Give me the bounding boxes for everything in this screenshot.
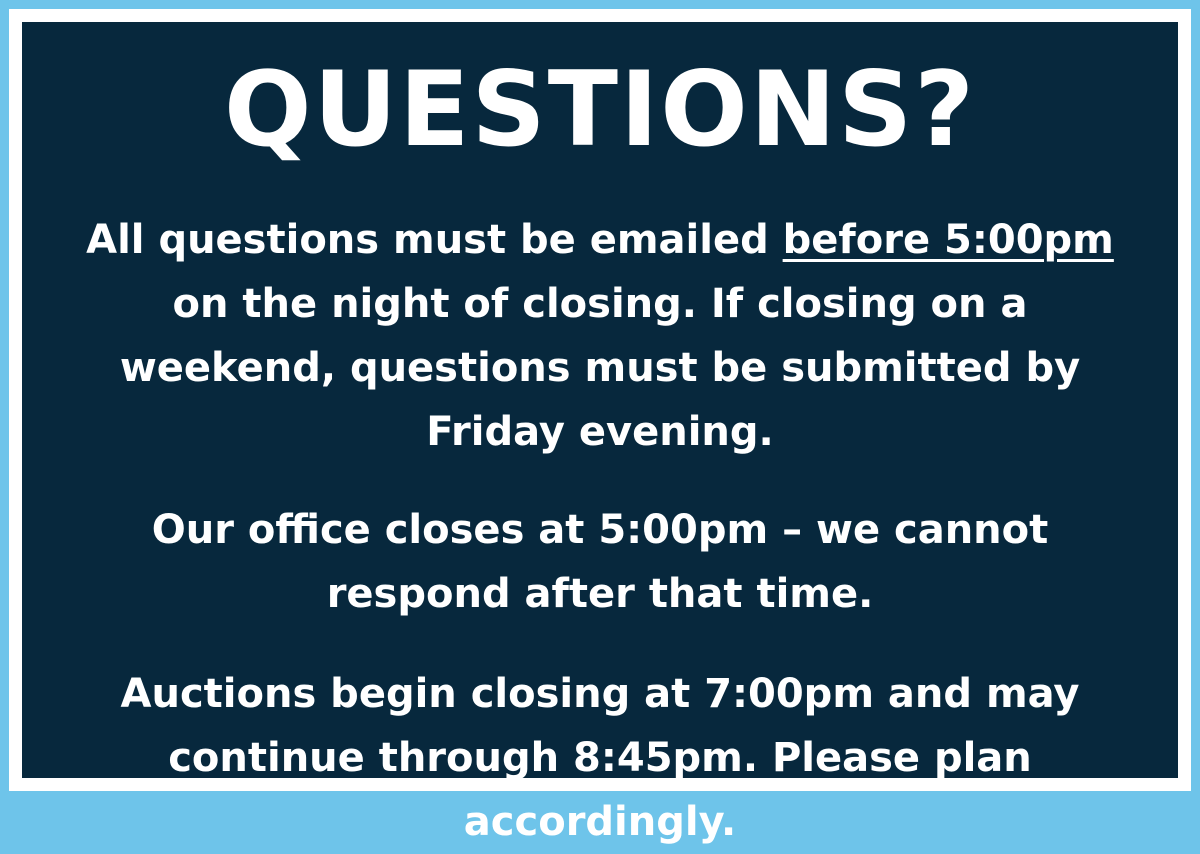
paragraph-question-deadline: All questions must be emailed before 5:0… bbox=[58, 208, 1142, 464]
inner-white-border: QUESTIONS? All questions must be emailed… bbox=[9, 9, 1191, 791]
paragraph-1-text-after: on the night of closing. If closing on a… bbox=[120, 281, 1080, 455]
poster: QUESTIONS? All questions must be emailed… bbox=[0, 0, 1200, 800]
body-copy: All questions must be emailed before 5:0… bbox=[58, 180, 1142, 854]
paragraph-1-emphasis-deadline: before 5:00pm bbox=[783, 217, 1114, 263]
navy-content-panel: QUESTIONS? All questions must be emailed… bbox=[22, 22, 1178, 778]
paragraph-auction-closing-times: Auctions begin closing at 7:00pm and may… bbox=[58, 662, 1142, 854]
page-title: QUESTIONS? bbox=[224, 56, 976, 164]
paragraph-office-hours: Our office closes at 5:00pm – we cannot … bbox=[58, 498, 1142, 626]
paragraph-1-text-before: All questions must be emailed bbox=[86, 217, 782, 263]
